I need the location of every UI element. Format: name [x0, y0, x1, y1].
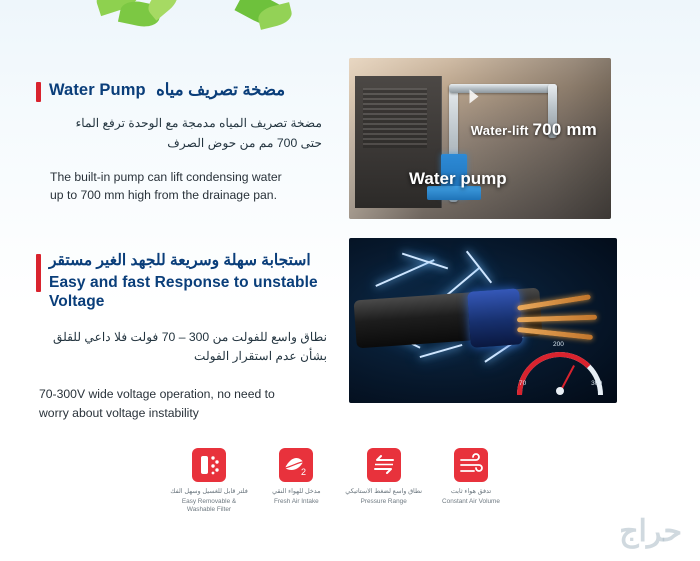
water-pump-body-ar-line2: حتى 700 مم من حوض الصرف [36, 134, 322, 154]
voltage-body-ar-line2: بشأن عدم استقرار الفولت [36, 347, 327, 367]
electric-spark-graphic [375, 259, 434, 287]
feature-icon-strip: فلتر قابل للغسيل وسهل الفك Easy Removabl… [170, 448, 510, 515]
gauge-tick-label: 70 [519, 380, 526, 387]
gauge-tick-label: 300 [591, 380, 602, 387]
water-pump-body-ar: مضخة تصريف المياه مدمجة مع الوحدة ترفع ا… [36, 114, 322, 154]
water-pump-label: Water pump [409, 169, 507, 189]
electric-spark-graphic [420, 344, 463, 358]
fresh-air-intake-icon: 2 [279, 448, 313, 482]
pipe-graphic [449, 84, 557, 93]
feature-label-en: Constant Air Volume [432, 498, 510, 507]
section-voltage: استجابة سهلة وسريعة للجهد الغير مستقر Ea… [36, 252, 341, 423]
water-pump-body-ar-line1: مضخة تصريف المياه مدمجة مع الوحدة ترفع ا… [36, 114, 322, 134]
feature-label-ar: نطاق واسع لضغط الاستاتيكي [345, 488, 423, 497]
gauge-tick-label: 200 [553, 341, 564, 348]
feature-label-en: Fresh Air Intake [257, 498, 335, 507]
water-pump-heading: Water Pump مضخة تصريف مياه [36, 80, 336, 102]
water-pump-heading-ar: مضخة تصريف مياه [156, 81, 285, 99]
water-lift-value: 700 mm [532, 120, 597, 139]
voltage-body-ar: نطاق واسع للفولت من 300 – 70 فولت فلا دا… [36, 328, 327, 368]
feature-item: تدفق هواء ثابت Constant Air Volume [432, 448, 510, 506]
constant-air-volume-icon [454, 448, 488, 482]
accent-bar [36, 82, 41, 102]
voltage-body-ar-line1: نطاق واسع للفولت من 300 – 70 فولت فلا دا… [36, 328, 327, 348]
water-pump-photo: Water-lift 700 mm Water pump [349, 58, 611, 219]
voltage-body-en-line2: worry about voltage instability [39, 404, 341, 423]
voltage-heading: استجابة سهلة وسريعة للجهد الغير مستقر Ea… [36, 252, 341, 312]
voltage-body-en-line1: 70-300V wide voltage operation, no need … [39, 385, 341, 404]
water-pump-body-en-line1: The built-in pump can lift condensing wa… [50, 168, 336, 187]
electric-spark-graphic [402, 253, 448, 270]
pressure-range-icon [367, 448, 401, 482]
washable-filter-icon [192, 448, 226, 482]
feature-label-ar: تدفق هواء ثابت [432, 488, 510, 497]
water-lift-label-text: Water-lift [471, 123, 529, 138]
water-pump-body-en: The built-in pump can lift condensing wa… [50, 168, 336, 206]
voltage-cable-photo: 70 200 300 [349, 238, 617, 403]
water-lift-label: Water-lift 700 mm [471, 120, 597, 140]
voltage-heading-ar: استجابة سهلة وسريعة للجهد الغير مستقر [49, 252, 341, 271]
site-watermark: حراج [619, 514, 682, 549]
water-pump-body-en-line2: up to 700 mm high from the drainage pan. [50, 186, 336, 205]
section-water-pump: Water Pump مضخة تصريف مياه مضخة تصريف ال… [36, 80, 336, 205]
voltage-body-en: 70-300V wide voltage operation, no need … [39, 385, 341, 423]
feature-label-ar: مدخل للهواء النقي [257, 488, 335, 497]
feature-item: فلتر قابل للغسيل وسهل الفك Easy Removabl… [170, 448, 248, 515]
feature-label-en: Easy Removable & Washable Filter [170, 498, 248, 515]
feature-label-en: Pressure Range [345, 498, 423, 507]
electric-spark-graphic [466, 251, 492, 284]
flow-arrow-icon [470, 90, 479, 104]
decorative-leaf-band [0, 0, 700, 44]
voltage-heading-en: Easy and fast Response to unstable Volta… [49, 274, 341, 312]
feature-label-ar: فلتر قابل للغسيل وسهل الفك [170, 488, 248, 497]
water-pump-heading-en: Water Pump [49, 81, 146, 99]
voltage-gauge: 70 200 300 [517, 343, 603, 395]
cable-sheath-graphic [467, 288, 523, 347]
gauge-hub [556, 387, 564, 395]
accent-bar [36, 254, 41, 292]
feature-item: 2 مدخل للهواء النقي Fresh Air Intake [257, 448, 335, 506]
feature-item: نطاق واسع لضغط الاستاتيكي Pressure Range [345, 448, 423, 506]
svg-text:2: 2 [301, 467, 306, 477]
